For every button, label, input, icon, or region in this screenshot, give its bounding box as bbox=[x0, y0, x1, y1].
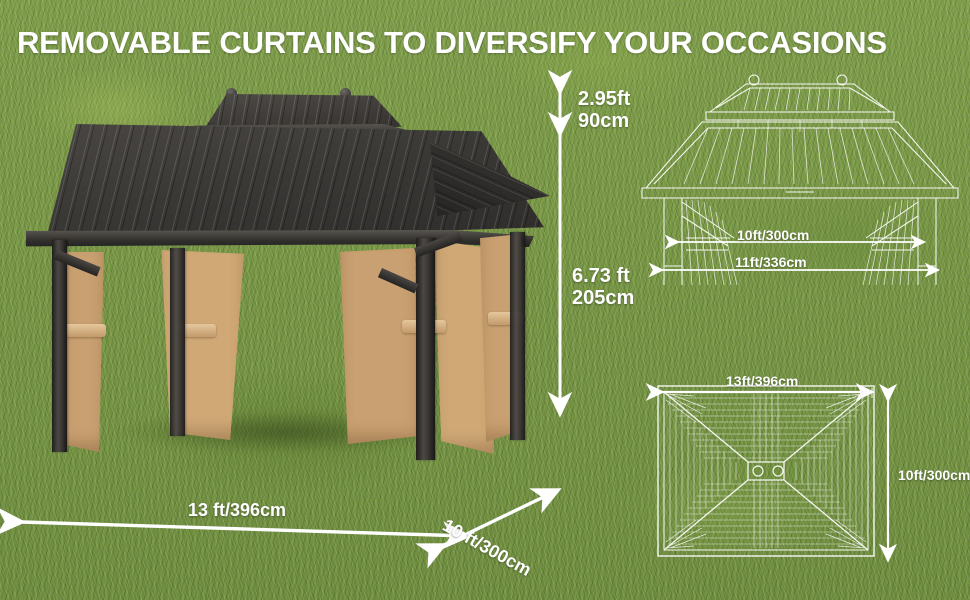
roof-plan-line-drawing bbox=[650, 370, 890, 570]
plan-top-span-label: 13ft/396cm bbox=[726, 374, 798, 390]
dim-length-label: 13 ft/396cm bbox=[188, 500, 286, 520]
page-title: REMOVABLE CURTAINS TO DIVERSIFY YOUR OCC… bbox=[17, 24, 957, 62]
post-left-rear bbox=[52, 240, 67, 452]
post-right-rear bbox=[510, 232, 525, 440]
post-left-front bbox=[170, 248, 185, 436]
infographic-canvas: REMOVABLE CURTAINS TO DIVERSIFY YOUR OCC… bbox=[0, 0, 970, 600]
plan-side-span-label: 10ft/300cm bbox=[898, 468, 970, 484]
curtain-tieback-left bbox=[64, 324, 106, 337]
curtain-panel-left-outer bbox=[62, 252, 104, 452]
elevation-outer-span-label: 11ft/336cm bbox=[735, 255, 807, 271]
elevation-inner-span-label: 10ft/300cm bbox=[737, 228, 809, 244]
product-photo bbox=[10, 72, 555, 472]
dim-roof-height-label: 2.95ft 90cm bbox=[578, 88, 630, 133]
dim-post-height-label: 6.73 ft 205cm bbox=[572, 265, 634, 310]
front-elevation-line-drawing bbox=[638, 70, 962, 285]
post-right-front bbox=[416, 238, 435, 460]
